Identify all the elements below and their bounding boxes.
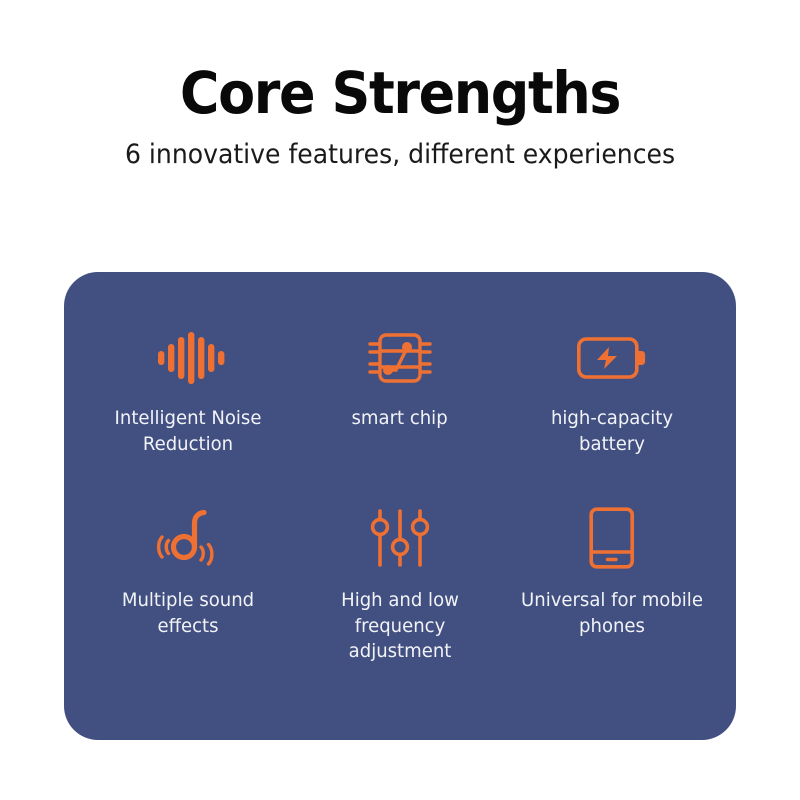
feature-label: Universal for mobile phones [519,588,705,639]
promotional-feature-page: Core Strengths 6 innovative features, di… [0,0,800,800]
feature-label: High and low frequency adjustment [307,588,493,665]
feature-grid: Intelligent Noise Reduction [64,272,736,740]
feature-item-battery: high-capacity battery [506,328,718,508]
equalizer-icon [372,508,428,568]
page-title: Core Strengths [28,64,772,122]
feature-label: smart chip [352,406,448,432]
feature-label: Multiple sound effects [95,588,281,639]
music-note-waves-icon [154,508,222,568]
sound-wave-icon [157,328,219,388]
mobile-phone-icon [589,508,635,568]
battery-icon [577,328,647,388]
feature-item-mobile-phone: Universal for mobile phones [506,508,718,688]
feature-label: high-capacity battery [519,406,705,457]
chip-icon [369,328,431,388]
feature-item-noise-reduction: Intelligent Noise Reduction [82,328,294,508]
header: Core Strengths 6 innovative features, di… [0,64,800,170]
feature-item-equalizer: High and low frequency adjustment [294,508,506,688]
feature-item-sound-effects: Multiple sound effects [82,508,294,688]
page-subtitle: 6 innovative features, different experie… [28,140,772,170]
feature-item-smart-chip: smart chip [294,328,506,508]
feature-label: Intelligent Noise Reduction [95,406,281,457]
feature-card: Intelligent Noise Reduction [64,272,736,740]
